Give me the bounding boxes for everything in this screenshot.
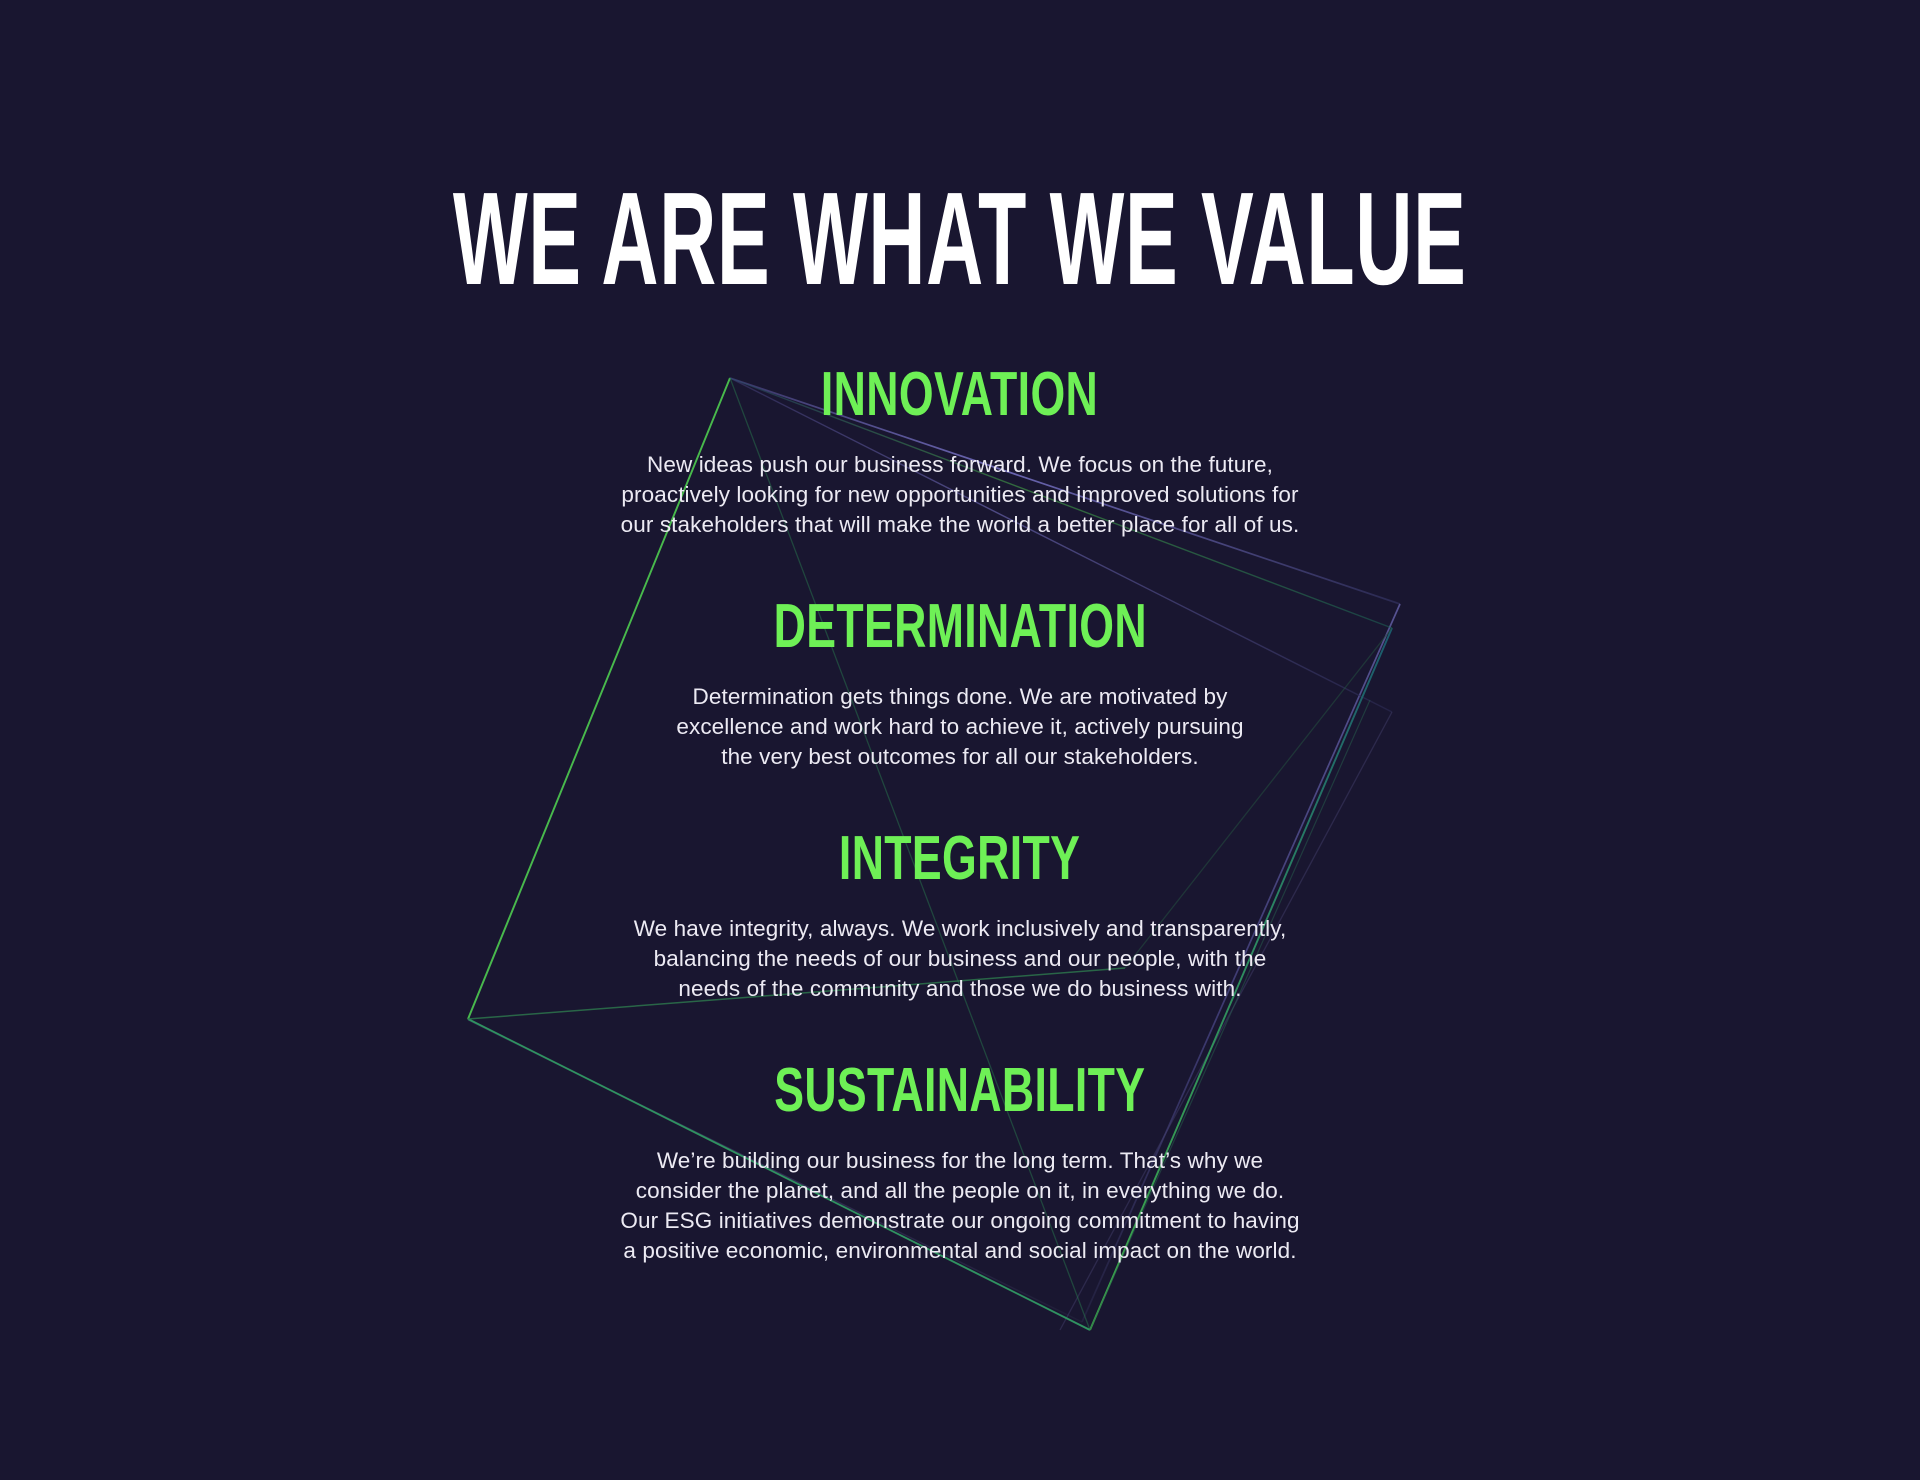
- value-body-sustainability: We’re building our business for the long…: [620, 1146, 1299, 1266]
- value-section-determination: DETERMINATION Determination gets things …: [0, 596, 1920, 772]
- value-heading-wrapper: SUSTAINABILITY: [0, 1060, 1920, 1122]
- value-heading-wrapper: INTEGRITY: [0, 828, 1920, 890]
- value-heading-integrity: INTEGRITY: [839, 828, 1080, 890]
- value-body-determination: Determination gets things done. We are m…: [676, 682, 1243, 772]
- value-heading-wrapper: INNOVATION: [0, 364, 1920, 426]
- value-section-sustainability: SUSTAINABILITY We’re building our busine…: [0, 1060, 1920, 1266]
- poster-canvas: WE ARE WHAT WE VALUE INNOVATION New idea…: [0, 0, 1920, 1480]
- content-column: WE ARE WHAT WE VALUE INNOVATION New idea…: [0, 0, 1920, 1480]
- value-heading-wrapper: DETERMINATION: [0, 596, 1920, 658]
- page-title: WE ARE WHAT WE VALUE: [453, 178, 1467, 299]
- page-title-wrapper: WE ARE WHAT WE VALUE: [0, 178, 1920, 304]
- value-heading-innovation: INNOVATION: [821, 364, 1098, 426]
- value-heading-sustainability: SUSTAINABILITY: [774, 1060, 1145, 1122]
- value-body-innovation: New ideas push our business forward. We …: [621, 450, 1300, 540]
- value-heading-determination: DETERMINATION: [773, 596, 1146, 658]
- value-section-innovation: INNOVATION New ideas push our business f…: [0, 364, 1920, 540]
- value-body-integrity: We have integrity, always. We work inclu…: [634, 914, 1287, 1004]
- value-section-integrity: INTEGRITY We have integrity, always. We …: [0, 828, 1920, 1004]
